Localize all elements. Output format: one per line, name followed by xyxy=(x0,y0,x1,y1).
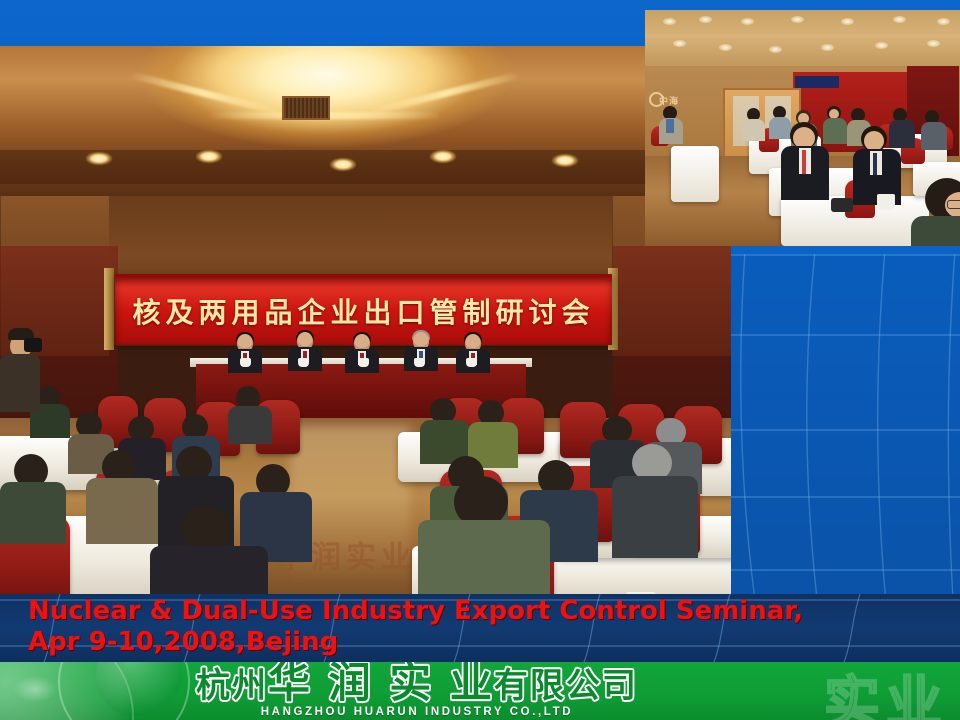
logo-city: 杭州 xyxy=(196,666,268,706)
presentation-slide: 核及两用品企业出口管制研讨会 xyxy=(0,0,960,720)
logo-main: 华 润 实 业 xyxy=(268,662,494,707)
sphere-highlight xyxy=(14,676,56,702)
logo-suffix: 有限公司 xyxy=(494,666,638,706)
ring-decoration xyxy=(58,662,190,720)
company-logo-english: HANGZHOU HUARUN INDUSTRY CO.,LTD xyxy=(196,706,638,718)
cameraman xyxy=(0,324,44,414)
photo-conference-hall: 核及两用品企业出口管制研讨会 xyxy=(0,46,731,594)
photo-seminar-attendees: 中海 xyxy=(645,10,960,246)
banner-text: 核及两用品企业出口管制研讨会 xyxy=(132,291,594,331)
company-footer: 实业 杭州华 润 实 业有限公司 HANGZHOU HUARUN INDUSTR… xyxy=(0,662,960,720)
caption-line-1: Nuclear & Dual-Use Industry Export Contr… xyxy=(28,596,803,626)
footer-watermark: 实业 xyxy=(824,662,948,720)
company-logo: 杭州华 润 实 业有限公司 HANGZHOU HUARUN INDUSTRY C… xyxy=(196,665,638,718)
caption-line-2: Apr 9-10,2008,Bejing xyxy=(28,627,803,658)
blue-divider-bar xyxy=(731,246,960,254)
slide-caption-band: Nuclear & Dual-Use Industry Export Contr… xyxy=(0,594,960,662)
caption-text: Nuclear & Dual-Use Industry Export Contr… xyxy=(28,596,803,658)
company-logo-chinese: 杭州华 润 实 业有限公司 xyxy=(196,665,638,704)
